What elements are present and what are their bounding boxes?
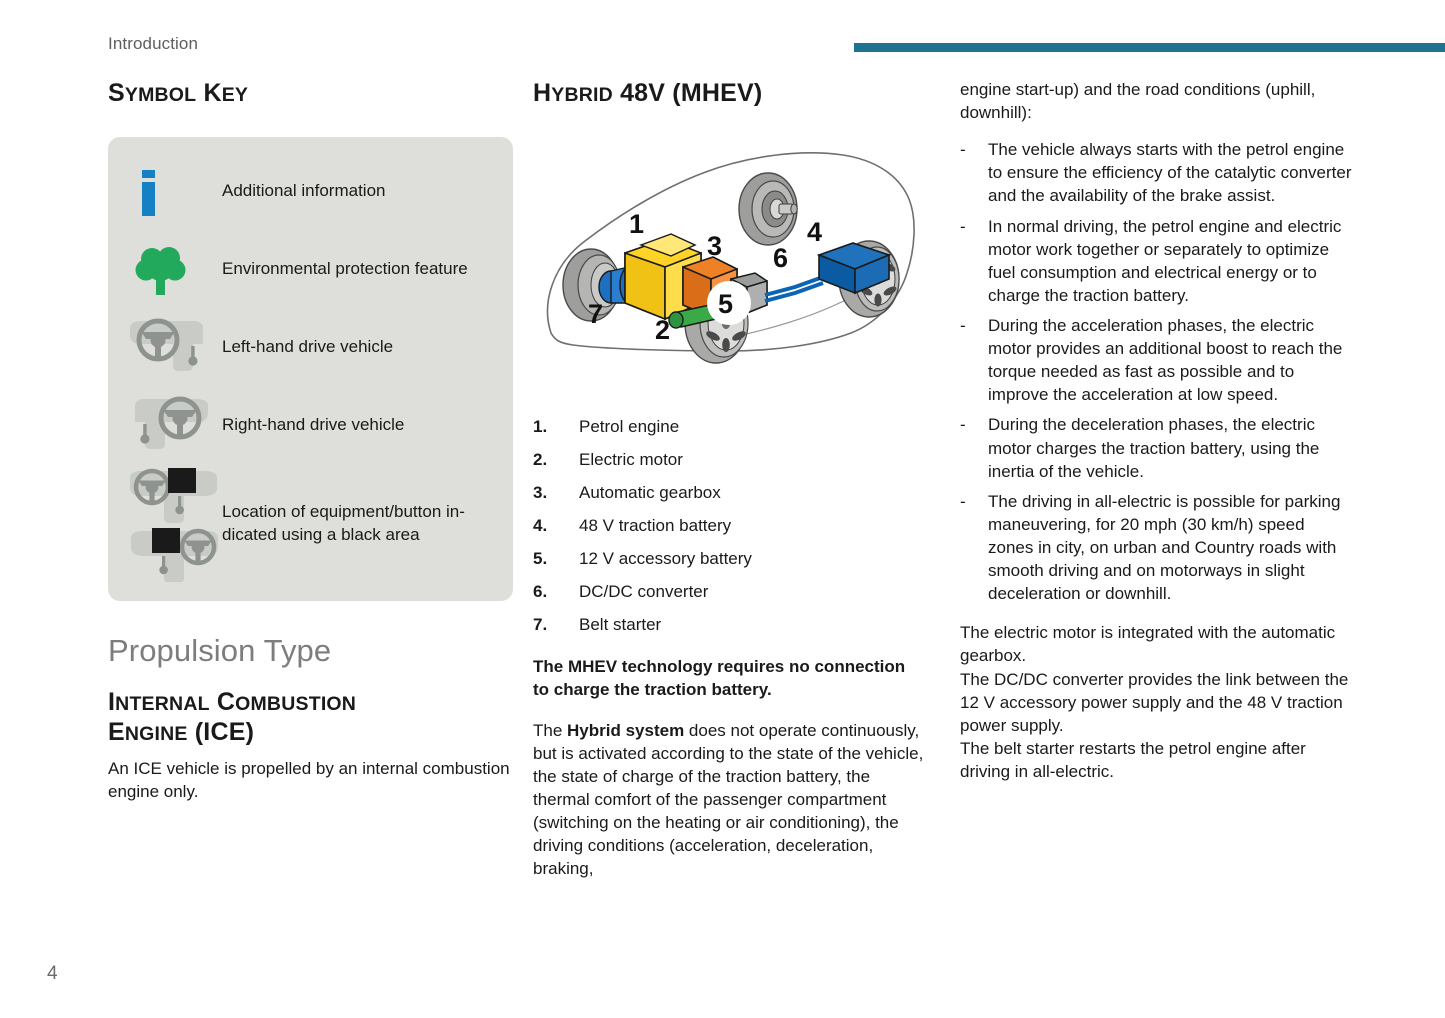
symbol-row: Location of equipment/button in- dicated… — [108, 465, 513, 583]
callout-6: 6 — [773, 243, 788, 273]
mhev-note: The MHEV technology requires no connecti… — [533, 655, 925, 701]
paragraph-rest: does not operate continuously, but is ac… — [533, 721, 923, 879]
symbol-label: Right-hand drive vehicle — [222, 414, 404, 437]
list-item: -During the acceleration phases, the ele… — [960, 314, 1353, 406]
mhev-powertrain-diagram: 1 3 4 6 5 7 2 — [533, 127, 925, 395]
callout-7: 7 — [588, 299, 603, 329]
bullet-text: During the acceleration phases, the elec… — [988, 314, 1353, 406]
symbol-row: Right-hand drive vehicle — [108, 387, 513, 465]
bullet-text: In normal driving, the petrol engine and… — [988, 215, 1353, 307]
left-hand-drive-icon — [126, 316, 222, 380]
callout-4: 4 — [807, 217, 822, 247]
legend-number: 6. — [533, 582, 579, 602]
legend-number: 4. — [533, 516, 579, 536]
paragraph-lead: The — [533, 721, 567, 740]
legend-label: Automatic gearbox — [579, 483, 721, 503]
list-item: -The vehicle always starts with the petr… — [960, 138, 1353, 207]
info-icon — [126, 166, 222, 218]
mhev-behaviour-list: -The vehicle always starts with the petr… — [960, 138, 1353, 605]
dash-bullet: - — [960, 490, 988, 606]
closing-paragraph: The electric motor is integrated with th… — [960, 621, 1353, 783]
list-item: 2.Electric motor — [533, 450, 925, 470]
list-item: -The driving in all-electric is possible… — [960, 490, 1353, 606]
running-head: Introduction — [108, 34, 198, 54]
list-item: 6.DC/DC converter — [533, 582, 925, 602]
page-number: 4 — [47, 963, 58, 985]
dash-bullet: - — [960, 314, 988, 406]
dash-bullet: - — [960, 138, 988, 207]
bullet-text: The vehicle always starts with the petro… — [988, 138, 1353, 207]
legend-label: 12 V accessory battery — [579, 549, 752, 569]
legend-label: Electric motor — [579, 450, 683, 470]
black-area-location-icon — [126, 466, 222, 582]
mhev-legend-list: 1.Petrol engine 2.Electric motor 3.Autom… — [533, 417, 925, 635]
continuation-paragraph: engine start-up) and the road conditions… — [960, 78, 1353, 124]
tree-icon — [126, 239, 222, 301]
callout-5: 5 — [718, 289, 733, 319]
dash-bullet: - — [960, 215, 988, 307]
hybrid-heading: HYBRID 48V (MHEV) — [533, 78, 925, 109]
list-item: 7.Belt starter — [533, 615, 925, 635]
callout-2: 2 — [655, 315, 670, 345]
symbol-row: Left-hand drive vehicle — [108, 309, 513, 387]
symbol-row: Environmental protection feature — [108, 231, 513, 309]
right-hand-drive-icon — [126, 394, 222, 458]
symbol-label: Location of equipment/button in- dicated… — [222, 501, 465, 547]
hybrid-system-paragraph: The Hybrid system does not operate conti… — [533, 719, 925, 881]
symbol-key-box: Additional information Environmental pro… — [108, 137, 513, 601]
ice-body-text: An ICE vehicle is propelled by an intern… — [108, 757, 520, 803]
legend-number: 7. — [533, 615, 579, 635]
list-item: 5.12 V accessory battery — [533, 549, 925, 569]
callout-3: 3 — [707, 231, 722, 261]
bullet-text: The driving in all-electric is possible … — [988, 490, 1353, 606]
dash-bullet: - — [960, 413, 988, 482]
propulsion-type-title: Propulsion Type — [108, 633, 520, 669]
legend-label: Belt starter — [579, 615, 661, 635]
header-rule — [854, 43, 1445, 52]
list-item: 3.Automatic gearbox — [533, 483, 925, 503]
list-item: -In normal driving, the petrol engine an… — [960, 215, 1353, 307]
legend-label: 48 V traction battery — [579, 516, 731, 536]
paragraph-bold-term: Hybrid system — [567, 721, 684, 740]
legend-label: DC/DC converter — [579, 582, 708, 602]
column-middle: HYBRID 48V (MHEV) — [533, 78, 925, 880]
symbol-row: Additional information — [108, 153, 513, 231]
column-left: SYMBOL KEY Additional information — [108, 78, 520, 803]
symbol-label: Left-hand drive vehicle — [222, 336, 393, 359]
bullet-text: During the deceleration phases, the elec… — [988, 413, 1353, 482]
legend-number: 1. — [533, 417, 579, 437]
legend-number: 3. — [533, 483, 579, 503]
legend-label: Petrol engine — [579, 417, 679, 437]
rear-axle-hub — [739, 173, 797, 245]
callout-1: 1 — [629, 209, 644, 239]
list-item: 4.48 V traction battery — [533, 516, 925, 536]
legend-number: 2. — [533, 450, 579, 470]
column-right: engine start-up) and the road conditions… — [960, 78, 1353, 783]
symbol-label: Environmental protection feature — [222, 258, 468, 281]
list-item: -During the deceleration phases, the ele… — [960, 413, 1353, 482]
ice-heading: INTERNAL COMBUSTIONENGINE (ICE) — [108, 687, 520, 748]
symbol-label: Additional information — [222, 180, 385, 203]
list-item: 1.Petrol engine — [533, 417, 925, 437]
legend-number: 5. — [533, 549, 579, 569]
symbol-key-heading: SYMBOL KEY — [108, 78, 520, 109]
